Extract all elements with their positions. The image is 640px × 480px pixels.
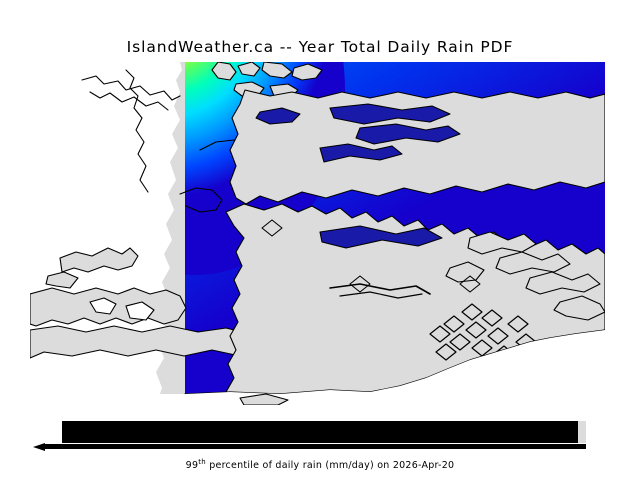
island-north-3: [262, 62, 292, 78]
colorbar-overflow-swatch: [578, 421, 586, 443]
caption-ordinal-suffix: th: [198, 458, 206, 466]
colorbar-arrow-icon: [33, 443, 45, 451]
map-panel[interactable]: [30, 62, 605, 405]
mainland-northeast: [230, 90, 605, 204]
colorbar[interactable]: [62, 421, 578, 443]
colorbar-caption: 99th percentile of daily rain (mm/day) o…: [0, 458, 640, 471]
page-title: IslandWeather.ca -- Year Total Daily Rai…: [0, 38, 640, 56]
coastline-overlay: [30, 62, 605, 405]
caption-description: percentile of daily rain (mm/day) on 202…: [206, 460, 454, 471]
island-north-tip: [212, 62, 236, 80]
colorbar-axis-line: [44, 444, 586, 449]
colorbar-group[interactable]: [0, 421, 640, 451]
island-north-4: [292, 64, 322, 80]
caption-percentile-number: 99: [186, 460, 199, 471]
island-north-2: [238, 62, 260, 76]
channel-hook: [180, 188, 222, 212]
